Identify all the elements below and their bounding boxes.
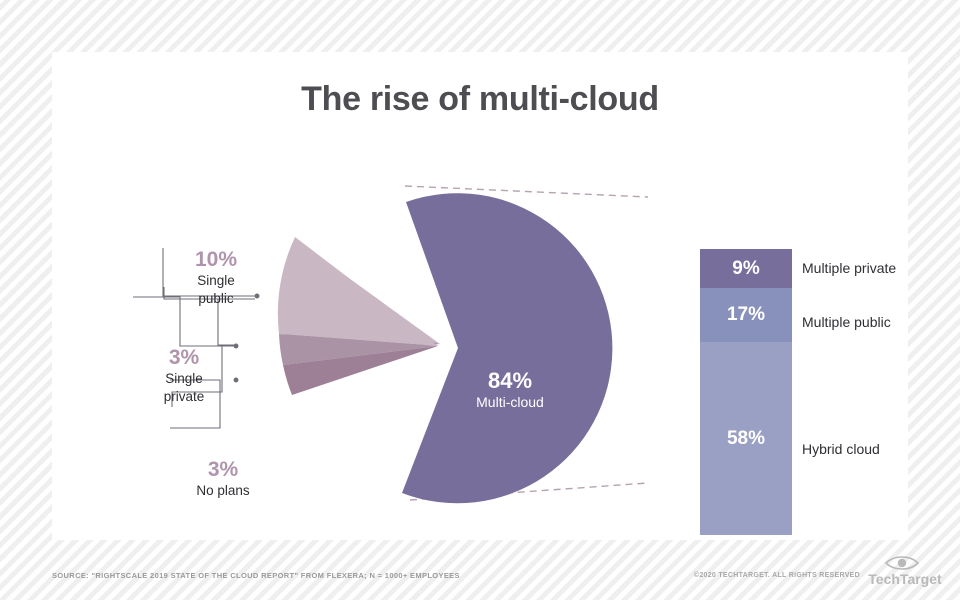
bar-segment-multiple-private-pct: 9% bbox=[732, 258, 759, 280]
bar-segment-multiple-public-pct: 17% bbox=[727, 304, 765, 326]
bar-label-hybrid-cloud: Hybrid cloud bbox=[802, 441, 880, 457]
bar-label-multiple-public: Multiple public bbox=[802, 314, 891, 330]
bar-segment-multiple-public: 17% bbox=[700, 288, 792, 342]
callout-single-public-pct: 10% bbox=[160, 248, 272, 271]
callout-single-private-line2: private bbox=[134, 389, 234, 405]
copyright-note: ©2020 TECHTARGET. ALL RIGHTS RESERVED bbox=[694, 572, 860, 579]
bar-label-multiple-private: Multiple private bbox=[802, 260, 896, 276]
infographic-card: The rise of multi-cloud bbox=[52, 52, 908, 540]
callout-single-private-pct: 3% bbox=[134, 346, 234, 369]
source-note: SOURCE: "RIGHTSCALE 2019 STATE OF THE CL… bbox=[52, 571, 460, 580]
callout-no-plans-pct: 3% bbox=[170, 458, 276, 481]
pie-center-label: 84% Multi-cloud bbox=[452, 368, 568, 411]
techtarget-logo: TechTarget bbox=[866, 551, 944, 591]
pie-center-name: Multi-cloud bbox=[452, 394, 568, 411]
callout-single-private-line1: Single bbox=[134, 371, 234, 387]
eye-pupil-icon bbox=[898, 559, 906, 567]
bar-segment-hybrid-cloud-pct: 58% bbox=[727, 428, 765, 450]
callout-single-public: 10% Single public bbox=[160, 248, 272, 307]
pie-center-pct: 84% bbox=[452, 368, 568, 393]
bar-segment-hybrid-cloud: 58% bbox=[700, 342, 792, 535]
callout-single-public-line2: public bbox=[160, 291, 272, 307]
callout-single-public-line1: Single bbox=[160, 273, 272, 289]
bar-segment-multiple-private: 9% bbox=[700, 249, 792, 288]
callout-no-plans-line1: No plans bbox=[170, 483, 276, 499]
callout-no-plans: 3% No plans bbox=[170, 458, 276, 499]
stacked-bar: 9% 17% 58% bbox=[700, 249, 792, 535]
callout-single-private: 3% Single private bbox=[134, 346, 234, 405]
techtarget-wordmark: TechTarget bbox=[868, 571, 942, 587]
